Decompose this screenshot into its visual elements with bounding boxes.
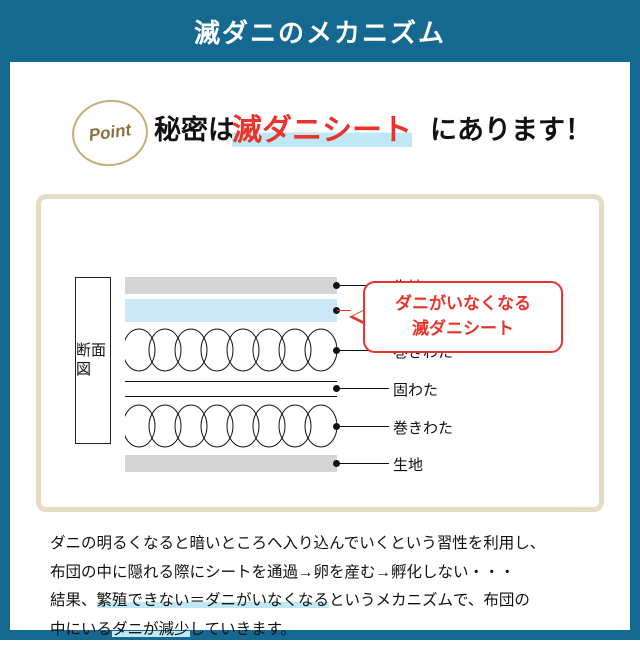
point-badge: Point bbox=[68, 95, 152, 171]
point-text-highlight: 滅ダニシート bbox=[232, 105, 412, 149]
layer-coils-bottom bbox=[125, 403, 337, 449]
page-title: 滅ダニのメカニズム bbox=[194, 13, 446, 50]
paragraph-line-4-b: していきます。 bbox=[190, 621, 297, 638]
page-header: 滅ダニのメカニズム bbox=[0, 0, 640, 62]
paragraph-line-2: 布団の中に隠れる際にシートを通過→卵を産む→孵化しない・・・ bbox=[50, 559, 602, 588]
paragraph-line-3: 結果、繁殖できない＝ダニがいなくなるというメカニズムで、布団の bbox=[50, 587, 602, 616]
paragraph-line-3-a: 結果、 bbox=[50, 592, 97, 609]
content-card: Point 秘密は 滅ダニシート にあります！ 断面図 bbox=[10, 62, 630, 630]
label-firm: 固わた bbox=[393, 379, 438, 400]
layer-fabric-bottom bbox=[125, 455, 337, 472]
label-fabric-bottom: 生地 bbox=[393, 454, 423, 475]
paragraph-line-3-highlight: 繁殖できない＝ダニがいなくなる bbox=[97, 592, 330, 609]
description-paragraph: ダニの明るくなると暗いところへ入り込んでいくという習性を利用し、 布団の中に隠れ… bbox=[50, 530, 602, 645]
paragraph-line-3-b: というメカニズムで、布団の bbox=[329, 592, 530, 609]
poster-root: 滅ダニのメカニズム Point 秘密は 滅ダニシート にあります！ 断面図 bbox=[0, 0, 640, 640]
point-badge-label: Point bbox=[88, 120, 133, 146]
layer-coils-top bbox=[125, 327, 337, 373]
leader-line-firm bbox=[337, 388, 389, 389]
leader-line-coils-bottom bbox=[337, 426, 389, 427]
label-coils-bottom: 巻きわた bbox=[393, 417, 453, 438]
layer-sheet bbox=[125, 299, 337, 322]
cross-section-label-text: 断面図 bbox=[76, 342, 110, 380]
paragraph-line-4: 中にいるダニが減少していきます。 bbox=[50, 616, 602, 645]
callout-line-2: 滅ダニシート bbox=[412, 317, 514, 342]
paragraph-line-4-a: 中にいる bbox=[50, 621, 112, 638]
point-text-after: にあります！ bbox=[430, 108, 592, 147]
sheet-callout: ダニがいなくなる 滅ダニシート bbox=[363, 281, 563, 353]
layer-fabric-top bbox=[125, 277, 337, 294]
paragraph-line-4-highlight: ダニが減少 bbox=[112, 621, 190, 638]
leader-line-fabric-bottom bbox=[337, 463, 389, 464]
callout-line-1: ダニがいなくなる bbox=[395, 292, 531, 317]
point-row: Point 秘密は 滅ダニシート にあります！ bbox=[10, 100, 630, 164]
point-text-before: 秘密は bbox=[154, 108, 235, 147]
cross-section-label: 断面図 bbox=[75, 277, 111, 444]
cross-section-diagram: 断面図 bbox=[36, 194, 604, 512]
paragraph-line-1: ダニの明るくなると暗いところへ入り込んでいくという習性を利用し、 bbox=[50, 530, 602, 559]
layer-firm-batting bbox=[125, 381, 337, 397]
